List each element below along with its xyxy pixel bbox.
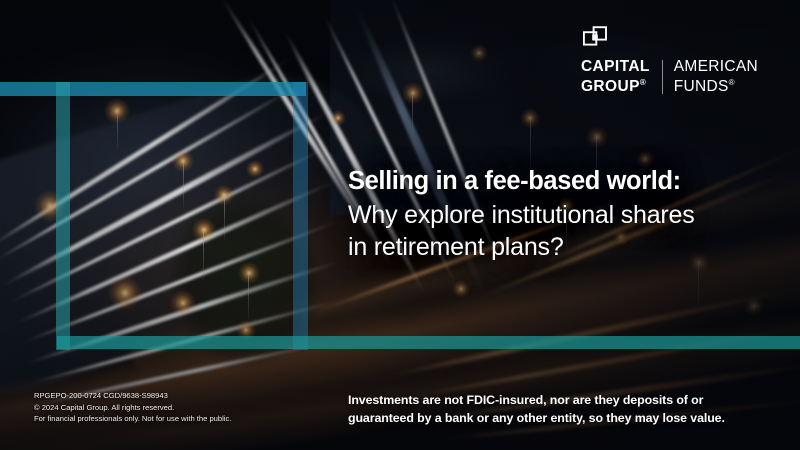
brand-logo: CAPITAL GROUP® AMERICAN FUNDS® — [581, 26, 758, 95]
slide-headline: Selling in a fee-based world: Why explor… — [348, 166, 778, 263]
american-funds-wordmark: AMERICAN FUNDS® — [674, 59, 758, 95]
registered-mark: ® — [640, 78, 646, 87]
teal-rule-horizontal-top — [0, 82, 306, 96]
headline-subtitle-line1: Why explore institutional shares — [348, 199, 778, 231]
teal-rule-vertical-right — [293, 82, 308, 350]
registered-mark: ® — [729, 78, 735, 87]
partner-name-line2: FUNDS® — [674, 75, 758, 95]
brand-name-line1: CAPITAL — [581, 58, 650, 75]
partner-name-line1: AMERICAN — [674, 58, 758, 75]
legal-code-line: RPGEPO-200-0724 CGD/9638-S98943 — [34, 390, 231, 402]
copyright-line: © 2024 Capital Group. All rights reserve… — [34, 402, 231, 414]
legal-footer: RPGEPO-200-0724 CGD/9638-S98943 © 2024 C… — [34, 390, 231, 425]
capital-group-mark-icon — [583, 26, 609, 52]
fdic-disclosure: Investments are not FDIC-insured, nor ar… — [348, 392, 788, 427]
headline-subtitle-line2: in retirement plans? — [348, 231, 778, 263]
logo-divider — [662, 60, 663, 94]
brand-lockup: CAPITAL GROUP® AMERICAN FUNDS® — [581, 59, 758, 95]
capital-group-wordmark: CAPITAL GROUP® — [581, 59, 650, 95]
teal-rule-horizontal-bottom — [57, 336, 800, 349]
headline-title: Selling in a fee-based world: — [348, 166, 778, 197]
disclosure-line1: Investments are not FDIC-insured, nor ar… — [348, 392, 788, 410]
audience-restriction-line: For financial professionals only. Not fo… — [34, 413, 231, 425]
brand-name-line2: GROUP® — [581, 75, 650, 95]
teal-rule-vertical-left — [56, 82, 70, 350]
disclosure-line2: guaranteed by a bank or any other entity… — [348, 410, 788, 428]
presentation-title-slide: CAPITAL GROUP® AMERICAN FUNDS® Selling i… — [0, 0, 800, 450]
